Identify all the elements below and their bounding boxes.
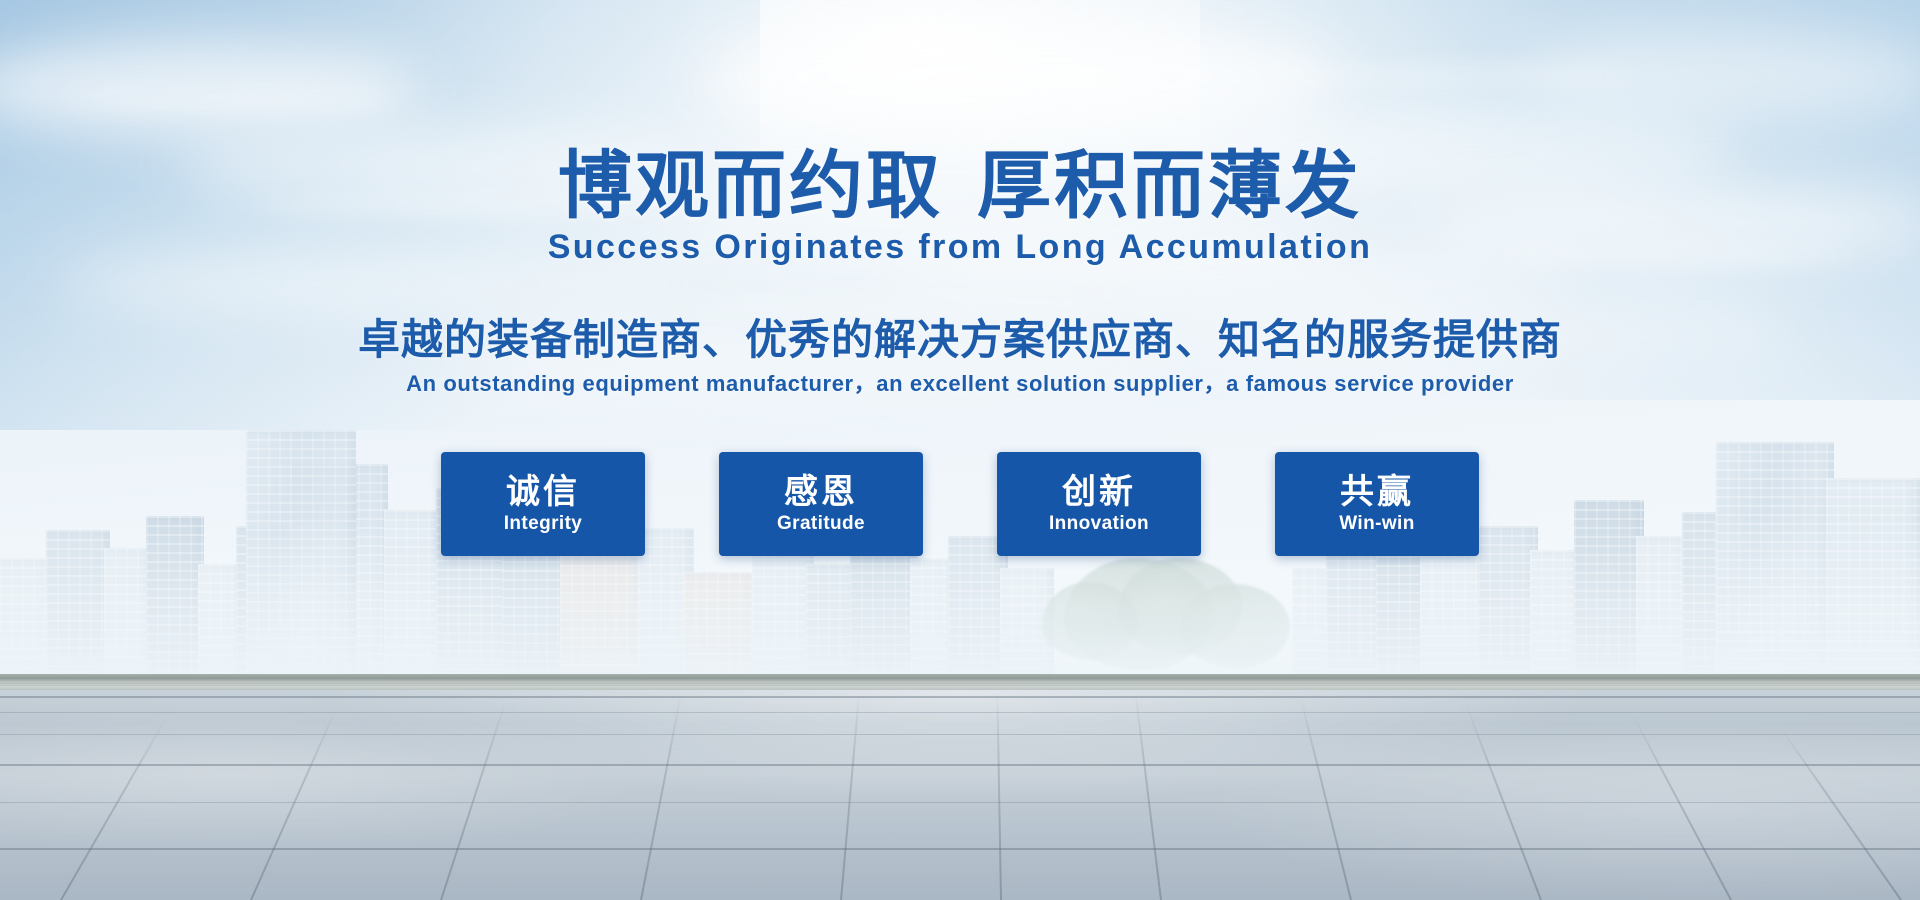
subtitle-chinese: 卓越的装备制造商、优秀的解决方案供应商、知名的服务提供商 (0, 306, 1920, 367)
value-box-winwin[interactable]: 共赢 Win-win (1275, 452, 1479, 556)
value-label-cn: 诚信 (506, 473, 580, 511)
banner-content: 博观而约取厚积而薄发 Success Originates from Long … (0, 0, 1920, 900)
headline-cn-part2: 厚积而薄发 (977, 143, 1362, 229)
value-label-en: Gratitude (777, 514, 865, 535)
headline-cn-part1: 博观而约取 (558, 143, 943, 229)
value-box-gratitude[interactable]: 感恩 Gratitude (719, 452, 923, 556)
hero-banner: 博观而约取厚积而薄发 Success Originates from Long … (0, 0, 1920, 900)
page-title: 博观而约取厚积而薄发 (0, 126, 1920, 233)
value-label-en: Integrity (504, 514, 583, 535)
value-label-en: Win-win (1339, 514, 1414, 535)
value-label-cn: 创新 (1062, 473, 1136, 511)
core-values-list: 诚信 Integrity 感恩 Gratitude 创新 Innovation … (0, 452, 1920, 556)
subtitle-english: An outstanding equipment manufacturer，an… (0, 366, 1920, 398)
value-box-innovation[interactable]: 创新 Innovation (997, 452, 1201, 556)
value-label-en: Innovation (1049, 514, 1149, 535)
value-box-integrity[interactable]: 诚信 Integrity (441, 452, 645, 556)
value-label-cn: 共赢 (1340, 473, 1414, 511)
value-label-cn: 感恩 (784, 473, 858, 511)
headline-english: Success Originates from Long Accumulatio… (0, 228, 1920, 267)
